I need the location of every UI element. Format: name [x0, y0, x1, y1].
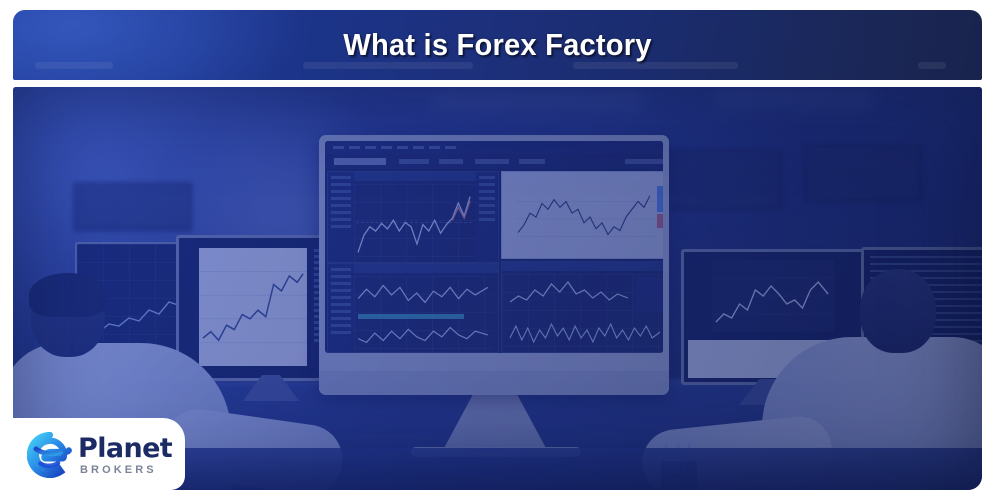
logo-tagline: BROKERS [80, 465, 172, 476]
logo-container[interactable]: Planet BROKERS [13, 418, 185, 490]
page-root: What is Forex Factory [0, 0, 1000, 500]
logo-wordmark: Planet [78, 435, 172, 462]
header-banner: What is Forex Factory [13, 10, 982, 80]
eplanet-globe-icon [27, 432, 73, 478]
page-title: What is Forex Factory [42, 10, 953, 80]
